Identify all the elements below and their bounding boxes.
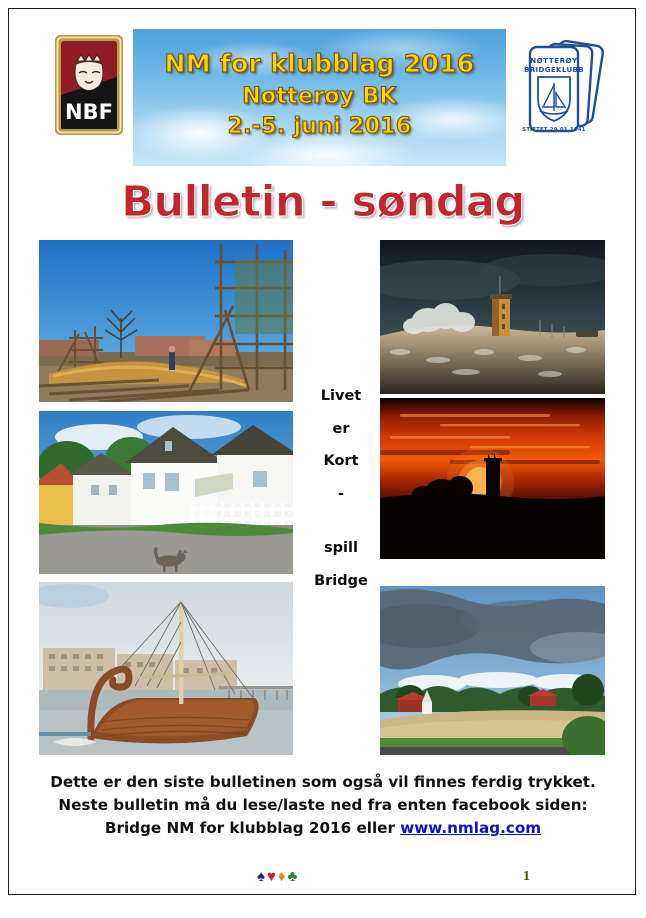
- photo-farmland-clouds: [380, 586, 605, 755]
- nbf-shield-lion-logo: NBF: [51, 31, 127, 139]
- bottom-notice: Dette er den siste bulletinen som også v…: [9, 771, 637, 840]
- slogan-word-3: Kort: [305, 454, 377, 469]
- header-row: NBF NM for klubblag 2016 Nøtterøy BK 2.-…: [9, 9, 637, 159]
- page-title: Bulletin - søndag: [9, 177, 637, 227]
- slogan-column: Livet er Kort - spill Bridge: [305, 389, 377, 588]
- slogan-word-2: er: [305, 422, 377, 437]
- slogan-spacer: [305, 436, 377, 454]
- slogan-spacer: [305, 501, 377, 541]
- slogan-spacer: [305, 404, 377, 422]
- page-number: 1: [523, 869, 530, 885]
- slogan-spacer: [305, 556, 377, 574]
- slogan-spacer: [305, 469, 377, 487]
- notteroy-bridgeklubb-cards-sailboat-logo: NØTTERØY BRIDGEKLUBB STIFTET 29.01.1941: [514, 31, 606, 143]
- photo-viking-ship-harbour: [39, 582, 293, 755]
- photo-viking-ship-construction: [39, 240, 293, 402]
- nbf-logo-text: NBF: [65, 100, 113, 124]
- club-logo-line2: BRIDGEKLUBB: [524, 66, 584, 74]
- slogan-word-6: Bridge: [305, 574, 377, 589]
- photo-tower-on-frosty-hill: [380, 240, 605, 394]
- club-logo-founded: STIFTET 29.01.1941: [522, 127, 585, 133]
- spade-icon: ♠: [257, 869, 265, 884]
- event-banner: NM for klubblag 2016 Nøtterøy BK 2.-5. j…: [133, 29, 506, 166]
- footer-card-suits: ♠ ♥ ♦ ♣: [257, 869, 297, 884]
- club-logo-line1: NØTTERØY: [530, 57, 578, 65]
- notice-line-1: Dette er den siste bulletinen som også v…: [9, 771, 637, 794]
- slogan-word-5: spill: [305, 541, 377, 556]
- notice-line-3: Bridge NM for klubblag 2016 eller www.nm…: [9, 817, 637, 840]
- slogan-word-4: -: [305, 487, 377, 502]
- club-icon: ♣: [288, 869, 298, 884]
- banner-title-line1: NM for klubblag 2016: [133, 49, 506, 78]
- photo-village-street-cat: [39, 411, 293, 574]
- diamond-icon: ♦: [278, 869, 286, 884]
- photo-red-sunset-tower: [380, 398, 605, 559]
- banner-title-line2: Nøtterøy BK: [133, 84, 506, 109]
- banner-title-line3: 2.-5. juni 2016: [133, 114, 506, 139]
- slogan-word-1: Livet: [305, 389, 377, 404]
- bulletin-page: NBF NM for klubblag 2016 Nøtterøy BK 2.-…: [8, 8, 636, 895]
- notice-line-3-prefix: Bridge NM for klubblag 2016 eller: [105, 819, 400, 837]
- nmlag-link[interactable]: www.nmlag.com: [400, 819, 541, 837]
- heart-icon: ♥: [267, 869, 276, 884]
- notice-line-2: Neste bulletin må du lese/laste ned fra …: [9, 794, 637, 817]
